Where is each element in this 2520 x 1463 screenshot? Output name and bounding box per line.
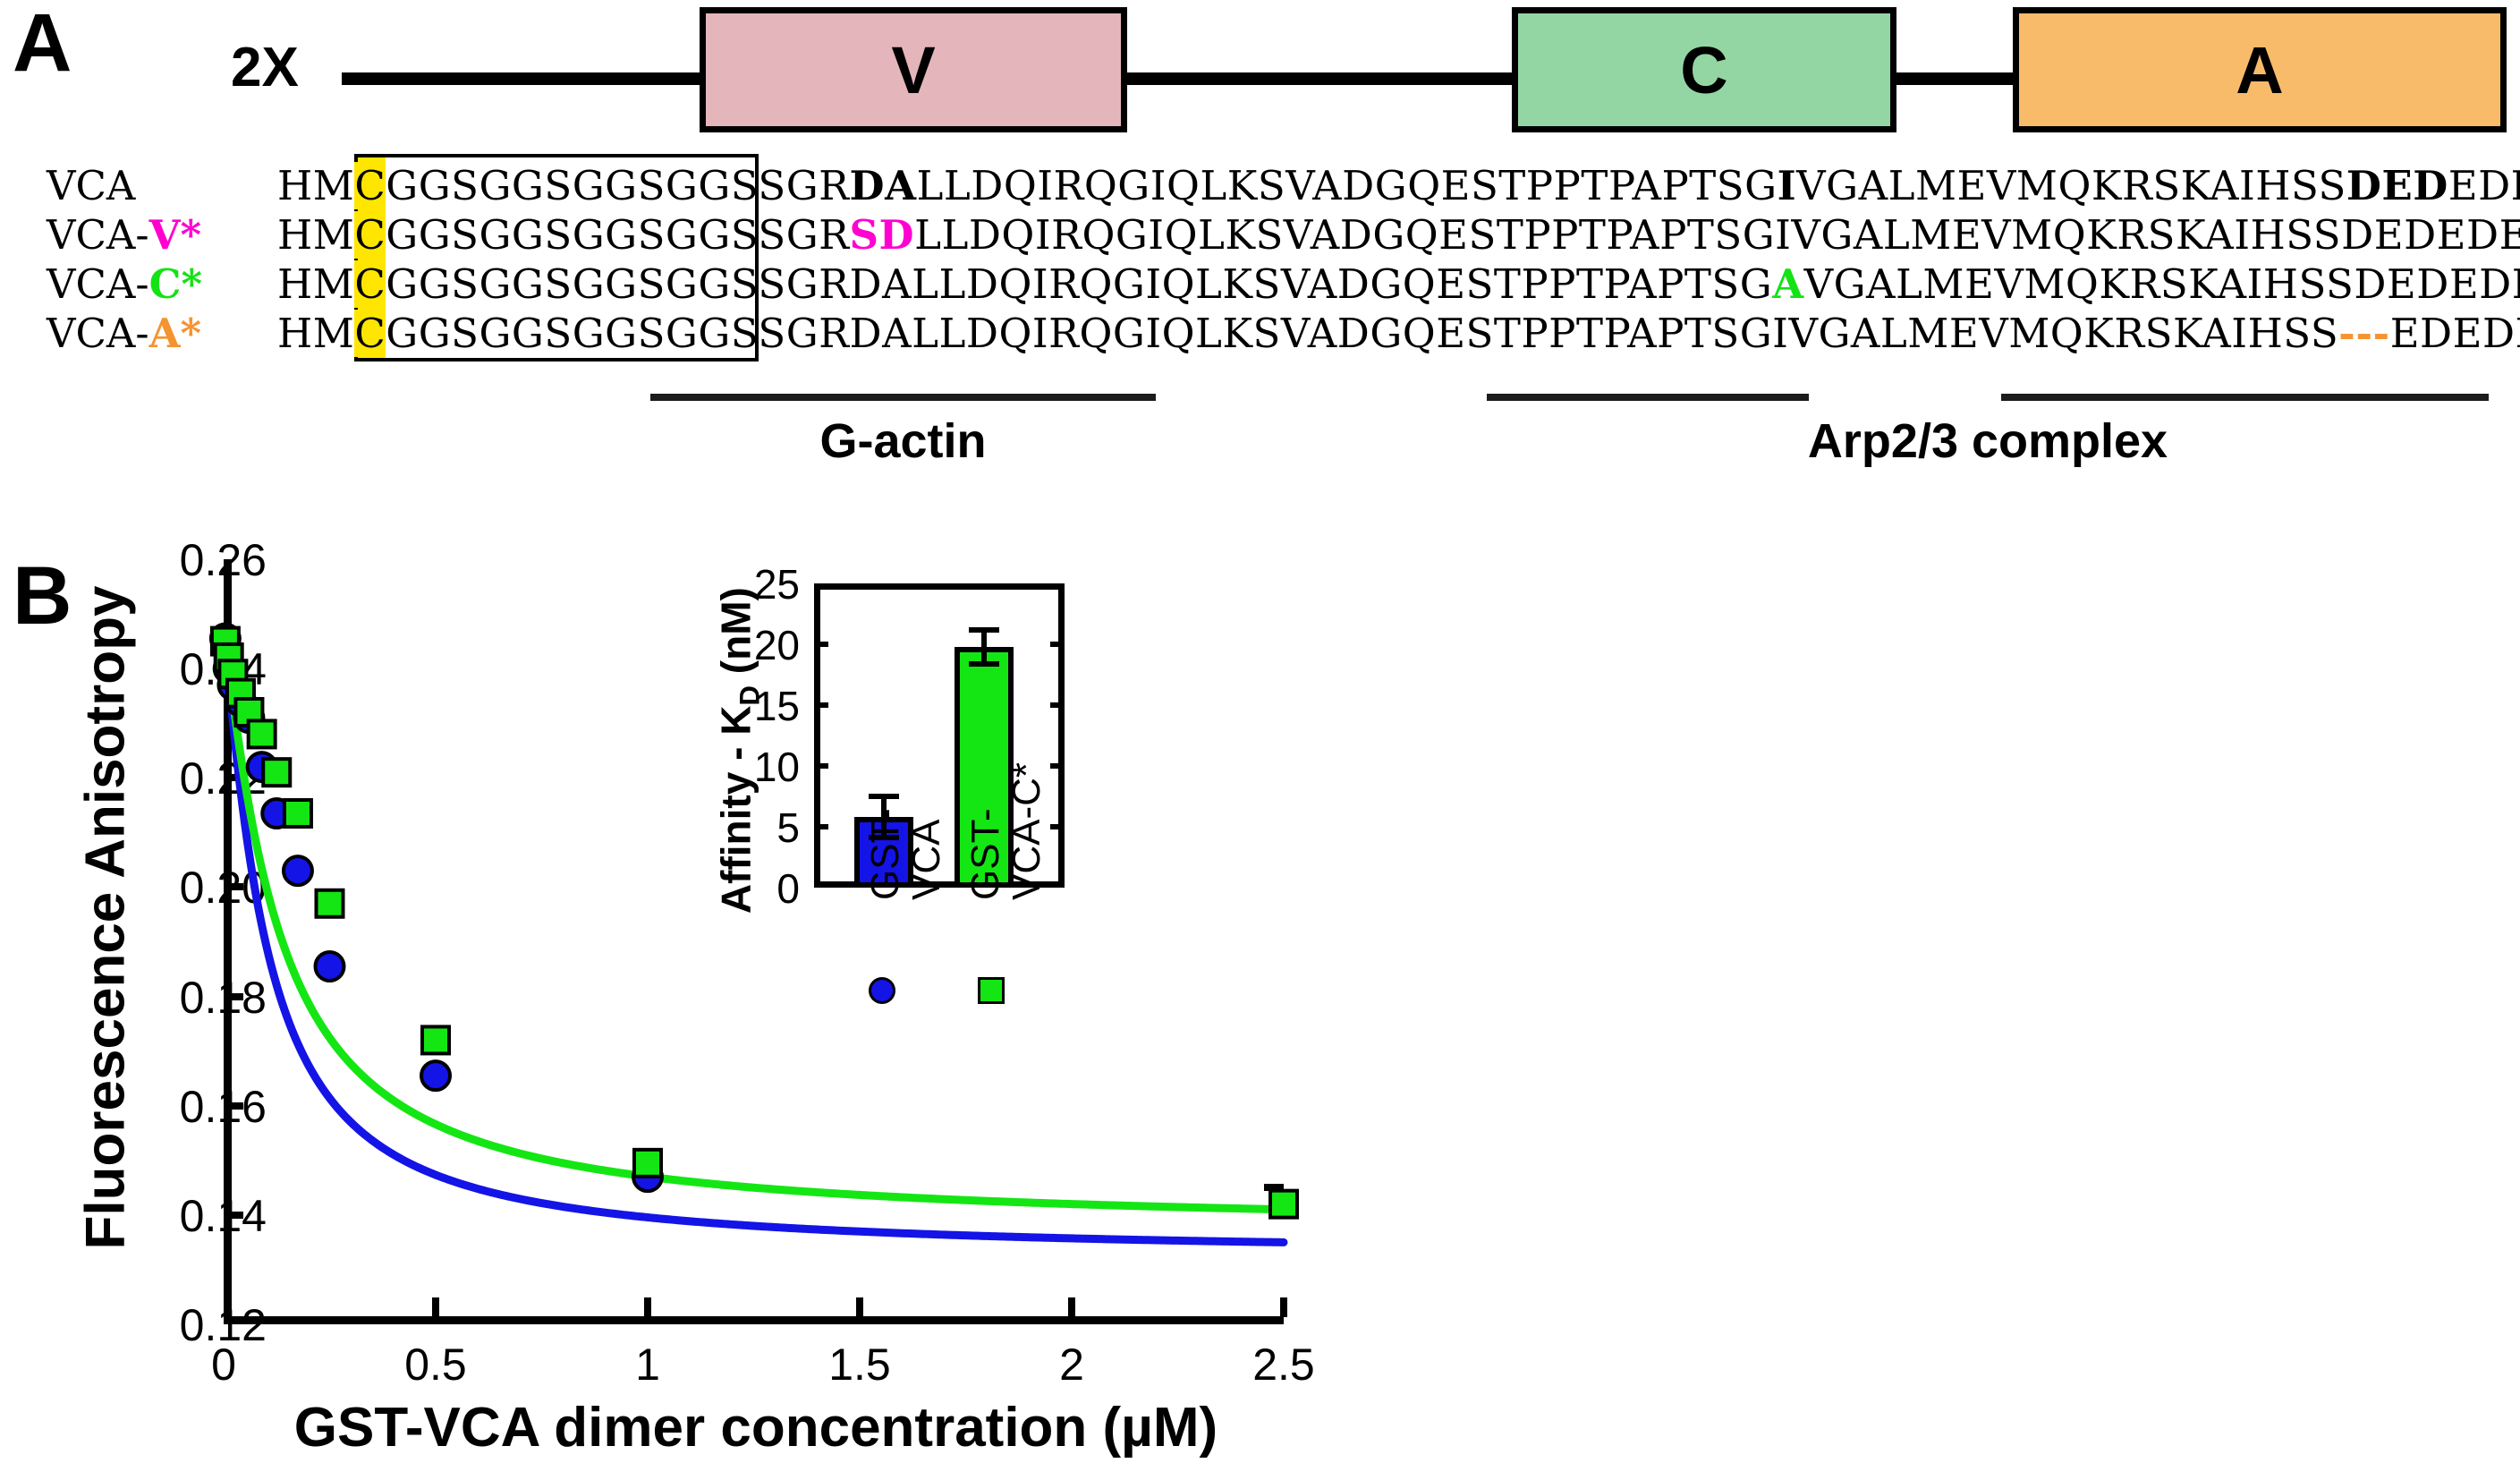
inset-y-tick-mark (814, 824, 828, 829)
g-actin-underline (650, 394, 1156, 401)
affinity-inset-chart: Affinity - KD (nM) 0510152025 GST-VCAGST… (689, 573, 1082, 1074)
sequence-segment: SGRDALLDQIRQGIQLKSVADGQESTPPTPAPTSGIVGAL… (758, 310, 2338, 357)
sequence-segment: A (1772, 260, 1803, 308)
sequence-segment: HM (277, 260, 354, 308)
inset-y-tick-label: 0 (701, 864, 800, 913)
alignment-sequence-vca-v: HMCGGSGGSGGSGGSSGRSDLLDQIRQGIQLKSVADGQES… (277, 210, 2520, 259)
plot-y-tick-mark (224, 665, 243, 672)
arp23-region-label: Arp2/3 complex (1487, 413, 2489, 469)
plot-x-tick-label: 1 (576, 1339, 719, 1391)
backbone-segment-2 (1127, 72, 1512, 85)
inset-y-tick-mark-right (1050, 824, 1065, 829)
inset-y-tick-label: 15 (701, 682, 800, 730)
sequence-segment: HM (277, 310, 354, 357)
plot-x-tick-label: 0 (152, 1339, 295, 1391)
g-actin-region-label: G-actin (650, 413, 1156, 469)
domain-box-c-label: C (1680, 32, 1727, 108)
inset-y-tick-label: 25 (701, 560, 800, 608)
arp23-underline-left (1487, 394, 1809, 401)
alignment-sequence-vca-a: HMCGGSGGSGGSGGSSGRDALLDQIRQGIQLKSVADGQES… (277, 309, 2520, 358)
plot-x-axis-label: GST-VCA dimer concentration (µM) (224, 1396, 1288, 1459)
plot-y-tick-label: 0.26 (88, 534, 267, 586)
plot-right-edge-tick (1264, 1184, 1284, 1191)
sequence-segment: SGR (758, 211, 849, 259)
domain-box-a-label: A (2236, 32, 2283, 108)
inset-y-tick-mark (814, 763, 828, 769)
inset-y-tick-label: 5 (701, 804, 800, 852)
sequence-segment: LLDQIRQGIQLKSVADGQESTPPTPAPTSGIVGALMEVMQ… (914, 211, 2520, 259)
sequence-segment: GGSGGSGGSGGS (386, 162, 758, 209)
inset-y-tick-label: 20 (701, 621, 800, 669)
alignment-label-variant-tag: C* (149, 260, 202, 308)
alignment-label-variant-tag: A* (149, 310, 201, 357)
sequence-segment: EDEDDEEDFEDDDEWED (2448, 162, 2520, 209)
plot-y-tick-mark (224, 1102, 243, 1110)
inset-category-label: GST- (964, 808, 1007, 900)
plot-x-tick-mark (856, 1297, 863, 1317)
domain-box-v: V (700, 7, 1127, 132)
plot-x-tick-label: 2 (1000, 1339, 1143, 1391)
alignment-row-label-vca-a: VCA-A* (47, 309, 315, 358)
alignment-label-base: VCA- (47, 310, 149, 357)
inset-y-tick-label: 10 (701, 743, 800, 791)
alignment-label-base: VCA- (47, 211, 149, 259)
inset-y-tick-mark (814, 702, 828, 708)
sequence-segment: GGSGGSGGSGGS (386, 310, 758, 357)
inset-error-bar-cap (969, 661, 999, 667)
inset-y-tick-mark-right (1050, 642, 1065, 647)
sequence-segment: VGALMEVMQKRSKAIHSS (1796, 162, 2346, 209)
sequence-segment: GGSGGSGGSGGS (386, 211, 758, 259)
inset-y-tick-mark (814, 642, 828, 647)
sequence-alignment: VCA VCA-V* VCA-C* VCA-A* HMCGGSGGSGGSGGS… (0, 157, 2520, 363)
domain-box-a: A (2013, 7, 2507, 132)
sequence-segment: LLDQIRQGIQLKSVADGQESTPPTPAPTSG (917, 162, 1778, 209)
backbone-segment-3 (1896, 72, 2013, 85)
plot-x-tick-mark (1068, 1297, 1075, 1317)
binding-curve-plot: Fluorescence Anisotropy GST-VCA dimer co… (0, 501, 1521, 1463)
sequence-segment: HM (277, 162, 354, 209)
sequence-segment: I (1778, 162, 1797, 209)
sequence-segment: --- (2338, 310, 2390, 357)
alignment-label-base: VCA- (47, 260, 149, 308)
domain-box-c: C (1512, 7, 1896, 132)
domain-architecture-diagram: 2X V C A (0, 0, 2520, 157)
inset-error-bar-cap (969, 627, 999, 633)
sequence-segment: VGALMEVMQKRSKAIHSSDEDEDEDDEEDFEDDDEWED (1804, 260, 2520, 308)
legend-marker-gst-vca (869, 977, 895, 1004)
sequence-segment: SD (850, 211, 915, 259)
legend-marker-gst-vca-c (978, 977, 1005, 1004)
sequence-segment: DA (850, 162, 917, 209)
sequence-segment: SGRDALLDQIRQGIQLKSVADGQESTPPTPAPTSG (758, 260, 1772, 308)
alignment-label-variant-tag: V* (149, 211, 201, 259)
sequence-segment: C (354, 211, 386, 259)
sequence-segment: C (354, 310, 386, 357)
plot-y-tick-mark (224, 993, 243, 1000)
plot-y-tick-mark (224, 1212, 243, 1219)
sequence-segment: GGSGGSGGSGGS (386, 260, 758, 308)
plot-x-tick-label: 0.5 (364, 1339, 507, 1391)
alignment-row-label-vca-v: VCA-V* (47, 210, 315, 259)
sequence-segment: EDEDDEEDFEDDDEWED (2390, 310, 2520, 357)
plot-x-tick-label: 1.5 (788, 1339, 931, 1391)
sequence-segment: C (354, 162, 386, 209)
backbone-segment-1 (342, 72, 700, 85)
dimer-multiplicity-label: 2X (231, 36, 299, 99)
alignment-label-base: VCA (47, 162, 135, 209)
arp23-underline-right (2001, 394, 2489, 401)
plot-x-tick-mark (644, 1297, 651, 1317)
plot-y-tick-mark (224, 774, 243, 781)
plot-x-tick-label: 2.5 (1212, 1339, 1355, 1391)
sequence-segment: C (354, 260, 386, 308)
sequence-segment: DED (2346, 162, 2448, 209)
inset-y-tick-mark-right (1050, 763, 1065, 769)
alignment-row-label-vca-c: VCA-C* (47, 259, 315, 309)
sequence-segment: HM (277, 211, 354, 259)
alignment-sequence-vca-c: HMCGGSGGSGGSGGSSGRDALLDQIRQGIQLKSVADGQES… (277, 259, 2520, 309)
inset-error-bar-cap (869, 794, 899, 799)
inset-error-bar (981, 630, 987, 664)
alignment-sequence-vca: HMCGGSGGSGGSGGSSGRDALLDQIRQGIQLKSVADGQES… (277, 161, 2520, 210)
plot-x-tick-mark (432, 1297, 439, 1317)
inset-category-label: GST- (864, 808, 907, 900)
alignment-row-label-vca: VCA (47, 161, 315, 210)
inset-category-label: VCA-C* (1005, 762, 1048, 900)
plot-y-tick-mark (224, 883, 243, 890)
plot-x-tick-mark (1280, 1297, 1287, 1317)
sequence-segment: SGR (758, 162, 849, 209)
inset-y-tick-mark-right (1050, 702, 1065, 708)
domain-box-v-label: V (891, 32, 935, 108)
inset-category-label: VCA (905, 820, 948, 900)
